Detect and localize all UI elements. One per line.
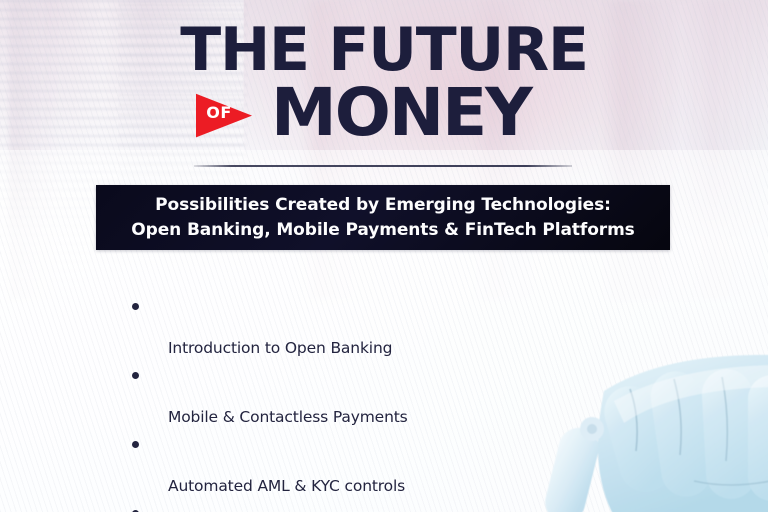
title-line-the-future: THE FUTURE [0,22,768,80]
bullet-dot-icon [132,303,139,310]
list-item: FinTech Platform Business Model [130,503,550,512]
list-item: Mobile & Contactless Payments [130,365,550,428]
poster-canvas: THE FUTURE MONEY OF Possibilities Create… [0,0,768,512]
bullet-dot-icon [132,372,139,379]
list-item: Automated AML & KYC controls [130,434,550,497]
list-item: Introduction to Open Banking [130,296,550,359]
poster-title-block: THE FUTURE MONEY OF [0,22,768,144]
bullet-dot-icon [132,441,139,448]
title-line-money: MONEY [0,82,768,144]
of-badge-label: OF [202,105,236,121]
list-item-label: Introduction to Open Banking [168,339,392,357]
subtitle-text: Possibilities Created by Emerging Techno… [131,193,634,243]
title-divider-rule [194,165,572,167]
title-line-money-row: MONEY OF [0,82,768,144]
list-item-label: Automated AML & KYC controls [168,477,405,495]
subtitle-banner: Possibilities Created by Emerging Techno… [96,185,670,250]
of-triangle-badge: OF [196,90,252,142]
robotic-hand-image [544,331,768,512]
list-item-label: Mobile & Contactless Payments [168,408,408,426]
topics-list: Introduction to Open Banking Mobile & Co… [130,296,550,512]
